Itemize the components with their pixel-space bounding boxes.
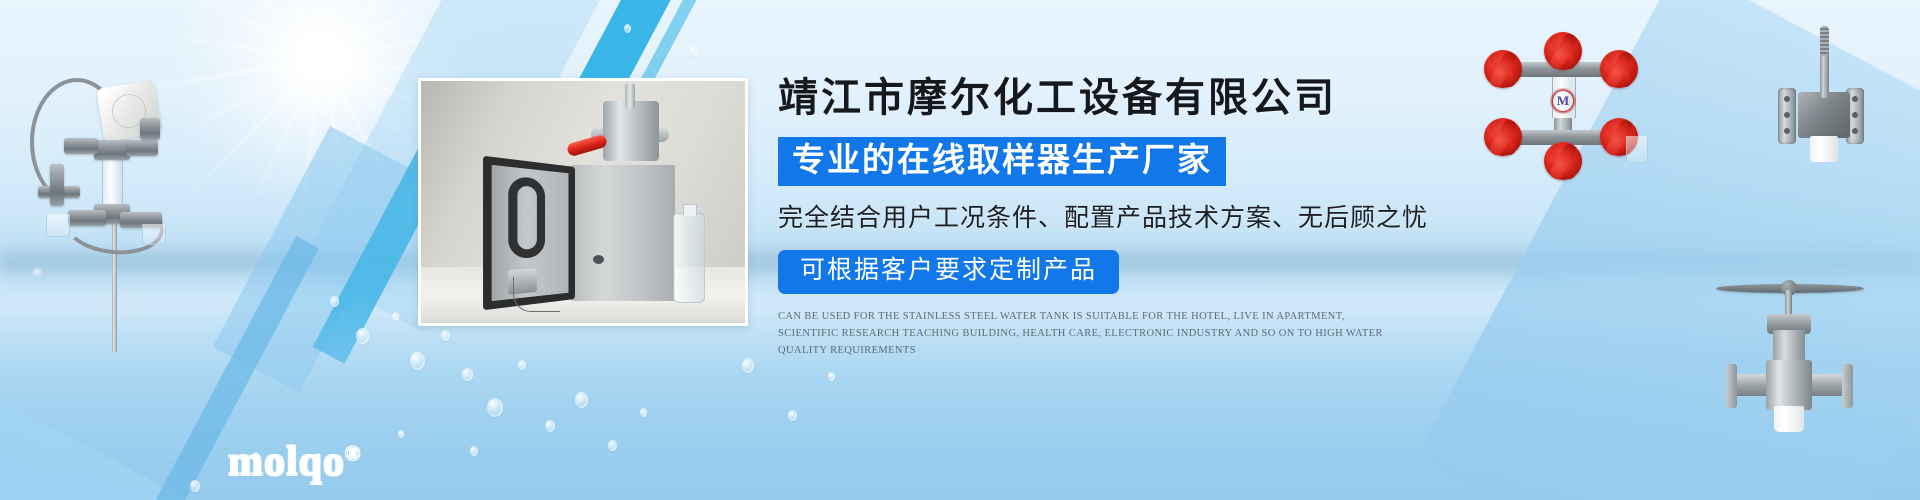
photo-valve-stem	[625, 83, 635, 109]
sample-jar	[142, 224, 166, 245]
registered-mark-icon: ®	[345, 443, 361, 465]
custom-product-pill: 可根据客户要求定制产品	[778, 250, 1119, 294]
product-photo	[418, 78, 748, 326]
water-droplet	[356, 328, 369, 344]
promo-banner: M 靖江市摩尔化工设备有限公司 专业的在线取样器生产厂家 完全结合用户工况	[0, 0, 1920, 500]
valve-flange-right	[1842, 364, 1853, 408]
water-droplet	[470, 446, 478, 456]
water-droplet	[575, 392, 588, 408]
valve-block	[126, 140, 158, 156]
valve-outlet	[1774, 406, 1804, 432]
water-droplet	[608, 440, 617, 451]
water-droplet	[441, 330, 450, 341]
handwheel	[1544, 32, 1582, 70]
relief-valve	[50, 164, 64, 206]
water-droplet	[518, 360, 526, 370]
water-droplet	[462, 368, 473, 381]
water-droplet	[545, 420, 555, 432]
photo-sample-bottle	[673, 213, 705, 303]
water-droplet	[410, 352, 425, 370]
water-droplet	[742, 358, 754, 373]
valve-block	[68, 210, 106, 226]
photo-cable	[513, 277, 560, 312]
water-droplet	[828, 372, 835, 381]
left-sampler-device	[8, 28, 193, 348]
valve-block	[94, 140, 130, 160]
water-droplet	[624, 24, 631, 33]
water-droplet	[398, 430, 404, 438]
sight-column	[102, 156, 123, 208]
brand-watermark: molqo®	[228, 438, 361, 486]
valve-pipe-left	[1734, 374, 1770, 396]
water-droplet	[640, 408, 647, 417]
water-droplet	[690, 46, 699, 57]
valve-block	[64, 138, 98, 154]
valve-body	[1766, 360, 1812, 410]
valve-pipe-right	[1808, 374, 1844, 396]
water-droplet	[330, 296, 339, 307]
valve-block	[140, 118, 160, 140]
water-droplet	[190, 480, 200, 492]
photo-cabinet	[571, 165, 675, 301]
banner-text-block: 靖江市摩尔化工设备有限公司 专业的在线取样器生产厂家 完全结合用户工况条件、配置…	[778, 76, 1898, 359]
water-droplet	[392, 312, 399, 321]
photo-valve-body	[603, 101, 659, 161]
watermark-text: molqo	[228, 439, 345, 485]
sample-jar	[46, 214, 70, 237]
photo-cabinet-port	[593, 255, 604, 264]
company-title: 靖江市摩尔化工设备有限公司	[778, 76, 1898, 120]
headline-highlight: 专业的在线取样器生产厂家	[778, 137, 1226, 186]
water-droplet	[788, 410, 797, 421]
english-description: CAN BE USED FOR THE STAINLESS STEEL WATE…	[778, 308, 1398, 359]
photo-door-window	[508, 176, 545, 259]
water-droplet	[487, 398, 503, 417]
valve-flange-left	[1726, 364, 1737, 408]
subline-text: 完全结合用户工况条件、配置产品技术方案、无后顾之忧	[778, 204, 1898, 233]
